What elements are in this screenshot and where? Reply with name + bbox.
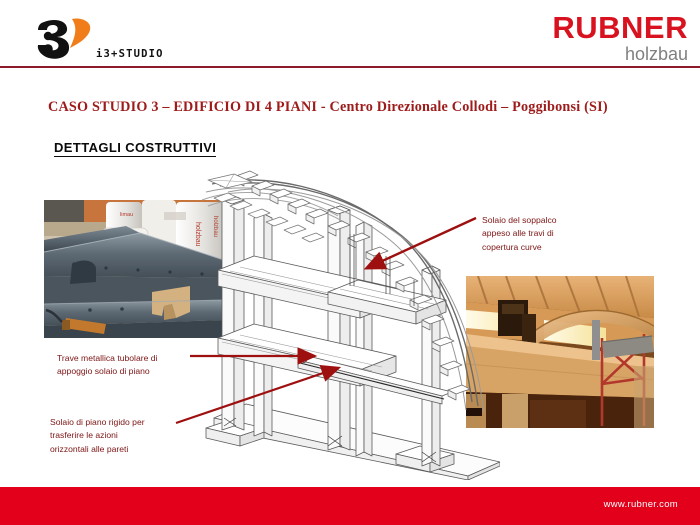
isometric-structure-drawing-content (200, 170, 500, 480)
rubner-subbrand: holzbau (508, 44, 688, 65)
i3studio-logo-label: i3+STUDIO (96, 48, 164, 60)
annotation-solaio-rigido: Solaio di piano rigido per trasferire le… (50, 416, 210, 456)
construction-site-photo-content: holzbau holzbau limau (44, 200, 224, 338)
slide-root: i3+STUDIO RUBNER holzbau CASO STUDIO 3 –… (0, 0, 700, 525)
annotation-solaio-soppalco: Solaio del soppalco appeso alle travi di… (482, 214, 622, 254)
isometric-structure-drawing (200, 170, 500, 480)
annotation-trave-metallica: Trave metallica tubolare di appoggio sol… (57, 352, 207, 379)
page-subtitle: DETTAGLI COSTRUTTIVI (54, 140, 216, 157)
page-title: CASO STUDIO 3 – EDIFICIO DI 4 PIANI - Ce… (48, 99, 668, 116)
header-divider (0, 66, 700, 68)
svg-text:limau: limau (120, 212, 133, 218)
footer-bar: www.rubner.com (0, 487, 700, 525)
rubner-wordmark: RUBNER (508, 12, 688, 43)
i3studio-logo: i3+STUDIO (28, 16, 153, 62)
rubner-logo: RUBNER holzbau (508, 12, 688, 65)
footer-url[interactable]: www.rubner.com (604, 499, 678, 510)
construction-site-photo: holzbau holzbau limau (44, 200, 224, 338)
